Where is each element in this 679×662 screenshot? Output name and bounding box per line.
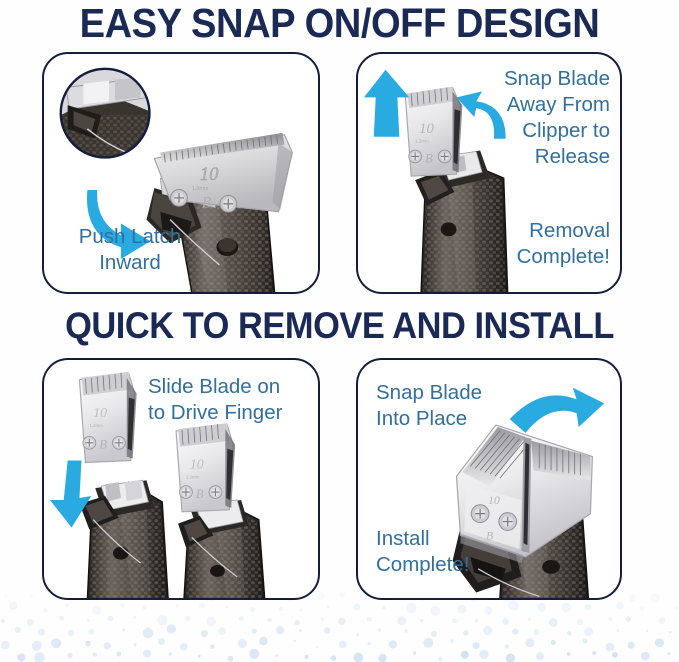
- svg-text:B: B: [99, 438, 107, 452]
- blue-dot-pattern: [0, 590, 679, 662]
- svg-text:B: B: [202, 195, 212, 212]
- panel-1-caption: Push Latch Inward: [50, 224, 210, 276]
- svg-text:10: 10: [190, 456, 204, 471]
- panel-3-caption: Slide Blade on to Drive Finger: [148, 374, 313, 426]
- svg-text:B: B: [196, 487, 204, 501]
- panel-snap-blade-into-place: 10 B Snap Blade Into Place Install Compl…: [356, 358, 622, 600]
- svg-text:1.2mm: 1.2mm: [89, 423, 103, 428]
- panel-2-caption-primary: Snap Blade Away From Clipper to Release: [435, 66, 610, 170]
- svg-text:B: B: [425, 151, 433, 165]
- svg-text:1.2mm: 1.2mm: [192, 186, 209, 192]
- svg-text:1.2mm: 1.2mm: [186, 474, 200, 479]
- panel-2-caption-status: Removal Complete!: [435, 218, 610, 270]
- panel-slide-blade-on: 10 1.2mm B: [42, 358, 320, 600]
- latch-closeup-inset: [61, 69, 150, 158]
- panel-4-caption-primary: Snap Blade Into Place: [376, 380, 536, 432]
- svg-text:10: 10: [93, 405, 107, 420]
- panel-snap-blade-away: 10 1.2mm B Snap: [356, 52, 622, 294]
- svg-text:10: 10: [488, 493, 500, 507]
- svg-text:10: 10: [419, 121, 434, 137]
- panel-push-latch-inward: 10 1.2mm B: [42, 52, 320, 294]
- clipper-right: 10 1.2mm B: [176, 423, 277, 598]
- svg-text:1.2mm: 1.2mm: [415, 139, 429, 144]
- panel-4-caption-status: Install Complete!: [376, 526, 536, 578]
- infographic-page: EASY SNAP ON/OFF DESIGN QUICK TO REMOVE …: [0, 0, 679, 662]
- svg-text:10: 10: [200, 164, 219, 185]
- page-title-primary: EASY SNAP ON/OFF DESIGN: [24, 1, 655, 45]
- page-title-secondary: QUICK TO REMOVE AND INSTALL: [24, 306, 655, 346]
